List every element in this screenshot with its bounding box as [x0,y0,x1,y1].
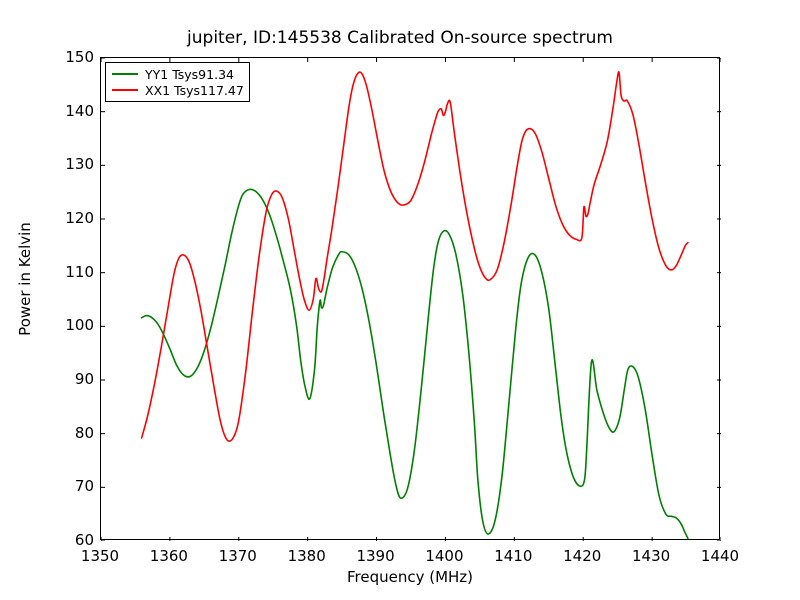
legend-color-swatch [112,73,138,75]
y-tick-label: 80 [50,424,94,442]
legend-color-swatch [112,89,138,91]
x-tick-label: 1400 [409,547,479,565]
y-tick-label: 110 [50,263,94,281]
x-tick-label: 1440 [685,547,755,565]
y-tick-label: 120 [50,209,94,227]
data-series-group [142,72,688,539]
x-tick-label: 1390 [341,547,411,565]
page-title: jupiter, ID:145538 Calibrated On-source … [0,28,800,48]
legend-label: YY1 Tsys91.34 [145,67,234,82]
x-tick-label: 1350 [65,547,135,565]
legend-label: XX1 Tsys117.47 [145,83,244,98]
x-tick-label: 1410 [478,547,548,565]
plot-area [100,57,720,540]
x-tick-label: 1380 [272,547,342,565]
y-tick-label: 70 [50,477,94,495]
x-axis-label: Frequency (MHz) [100,568,720,586]
series-line-1 [142,72,688,441]
x-tick-label: 1360 [134,547,204,565]
x-tick-label: 1370 [203,547,273,565]
legend-item-0[interactable]: YY1 Tsys91.34 [110,66,244,82]
x-tick-label: 1430 [616,547,686,565]
y-tick-label: 140 [50,102,94,120]
x-tick-label: 1420 [547,547,617,565]
chart-legend: YY1 Tsys91.34XX1 Tsys117.47 [105,62,250,102]
y-tick-label: 100 [50,316,94,334]
y-tick-label: 90 [50,370,94,388]
y-axis-label: Power in Kelvin [16,179,34,379]
plot-svg [101,58,721,541]
y-tick-label: 130 [50,155,94,173]
figure-canvas: jupiter, ID:145538 Calibrated On-source … [0,0,800,600]
legend-item-1[interactable]: XX1 Tsys117.47 [110,82,244,98]
series-line-0 [142,189,688,538]
y-axis-tick-labels: 60708090100110120130140150 [46,57,94,540]
y-tick-label: 150 [50,48,94,66]
